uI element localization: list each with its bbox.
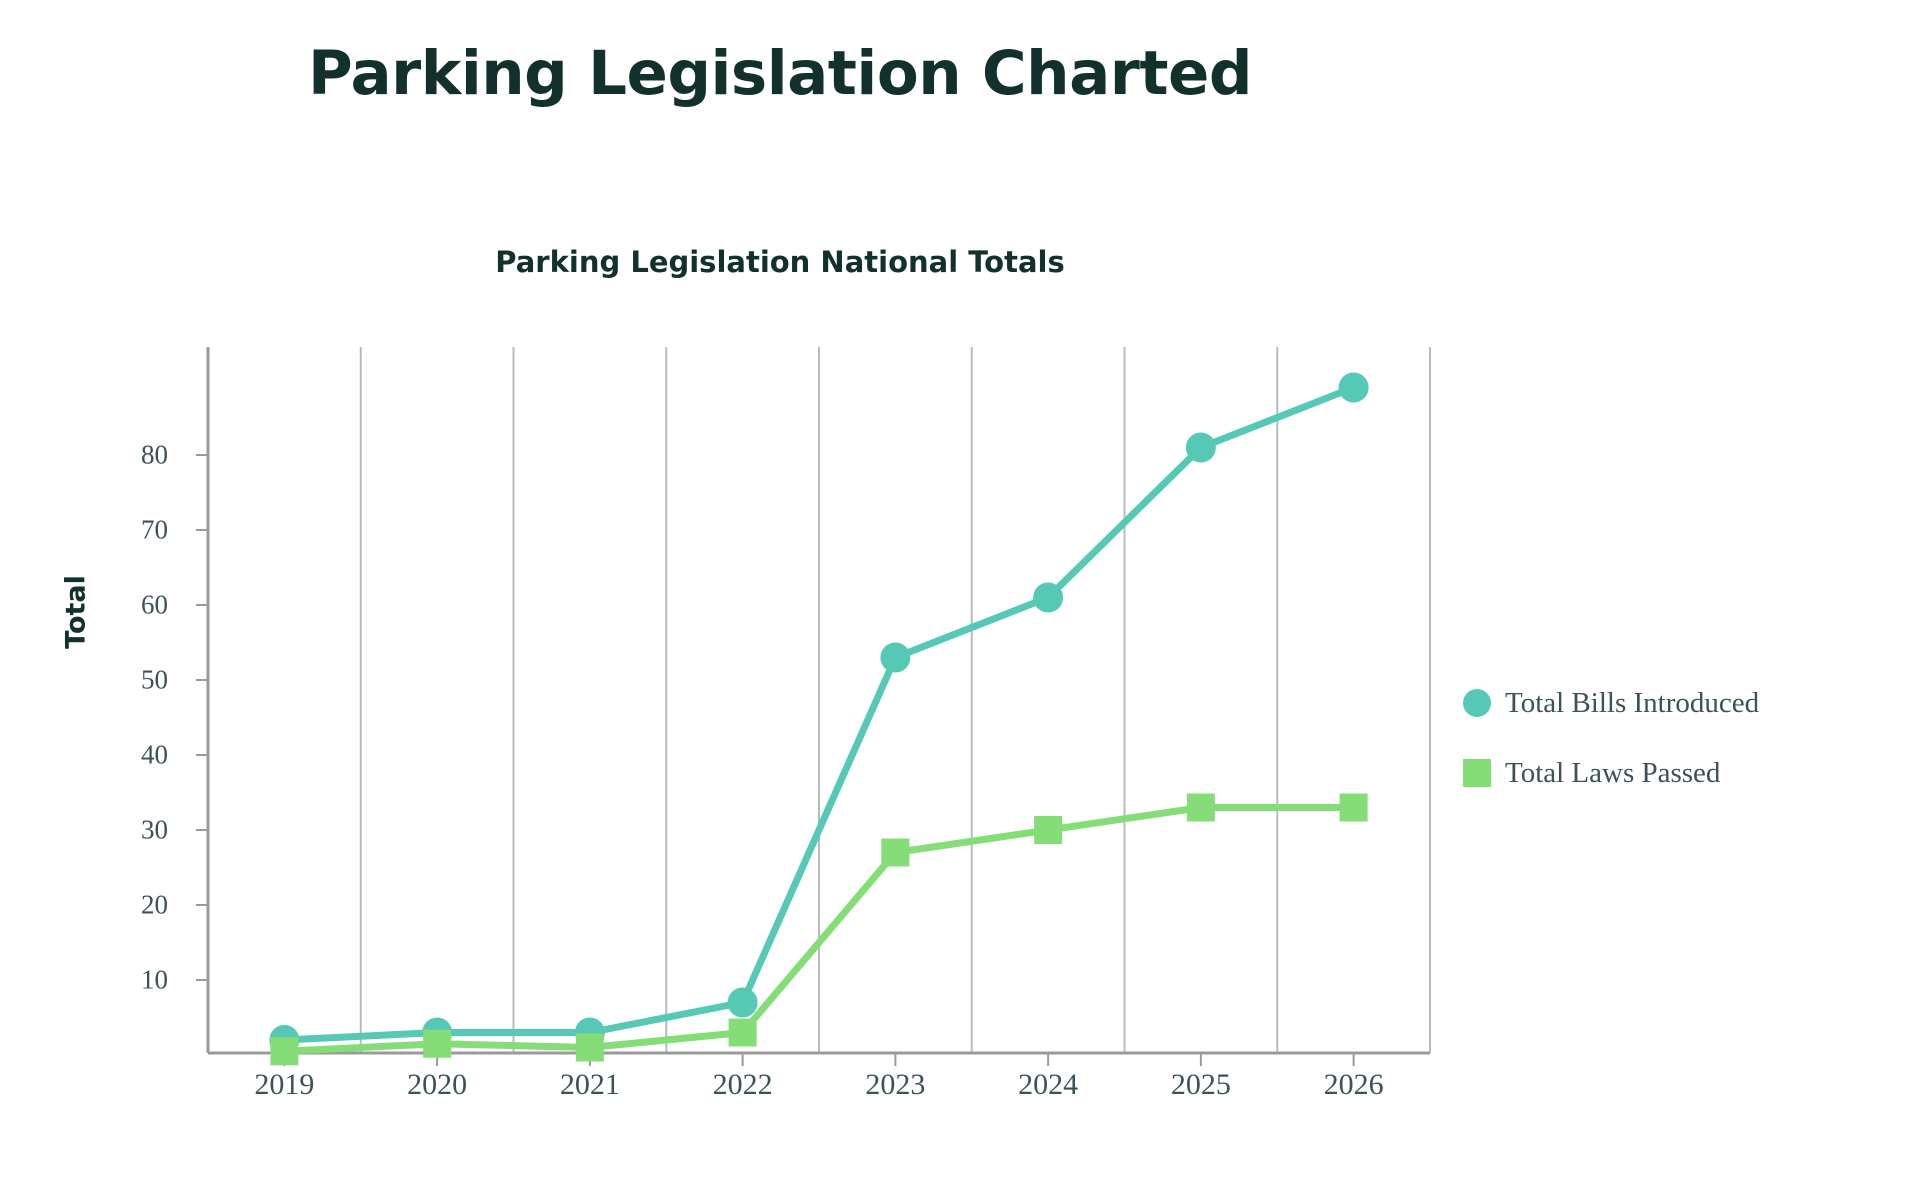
data-point-marker-square — [1340, 794, 1368, 822]
legend-item-label: Total Laws Passed — [1505, 757, 1720, 790]
y-axis-tick-label: 80 — [110, 440, 168, 471]
y-axis-tick-label: 10 — [110, 965, 168, 996]
data-point-marker-square — [881, 839, 909, 867]
data-point-marker-square — [729, 1019, 757, 1047]
legend-item-label: Total Bills Introduced — [1505, 687, 1759, 720]
x-axis-tick-label: 2026 — [1324, 1068, 1384, 1102]
plot-canvas — [0, 0, 1906, 1198]
x-axis-tick-label: 2025 — [1171, 1068, 1231, 1102]
data-point-marker-circle — [1339, 373, 1369, 403]
axis-ticks — [196, 455, 1354, 1066]
data-point-marker-circle — [728, 988, 758, 1018]
legend-square-icon — [1463, 759, 1491, 787]
legend-item[interactable]: Total Bills Introduced — [1463, 668, 1883, 738]
x-axis-tick-label: 2021 — [560, 1068, 620, 1102]
y-axis-tick-label: 20 — [110, 890, 168, 921]
x-axis-tick-label: 2024 — [1018, 1068, 1078, 1102]
data-point-marker-square — [1034, 816, 1062, 844]
legend-circle-icon — [1463, 689, 1491, 717]
y-axis-tick-label: 60 — [110, 590, 168, 621]
x-axis-tick-label: 2023 — [865, 1068, 925, 1102]
data-point-marker-circle — [1186, 433, 1216, 463]
data-point-marker-square — [1187, 794, 1215, 822]
chart-page: Parking Legislation Charted Parking Legi… — [0, 0, 1906, 1198]
data-point-marker-circle — [1033, 583, 1063, 613]
legend-item[interactable]: Total Laws Passed — [1463, 738, 1883, 808]
chart-legend: Total Bills IntroducedTotal Laws Passed — [1463, 668, 1883, 808]
x-axis-tick-label: 2020 — [407, 1068, 467, 1102]
data-point-marker-square — [270, 1037, 298, 1065]
y-axis-tick-label: 40 — [110, 740, 168, 771]
x-axis-tick-label: 2022 — [713, 1068, 773, 1102]
x-axis-tick-label: 2019 — [254, 1068, 314, 1102]
data-point-marker-square — [576, 1034, 604, 1062]
data-point-marker-square — [423, 1030, 451, 1058]
chart-figure: Parking Legislation National Totals Tota… — [0, 0, 1906, 1198]
y-axis-tick-label: 70 — [110, 515, 168, 546]
data-point-marker-circle — [880, 643, 910, 673]
y-axis-tick-label: 30 — [110, 815, 168, 846]
y-axis-tick-label: 50 — [110, 665, 168, 696]
